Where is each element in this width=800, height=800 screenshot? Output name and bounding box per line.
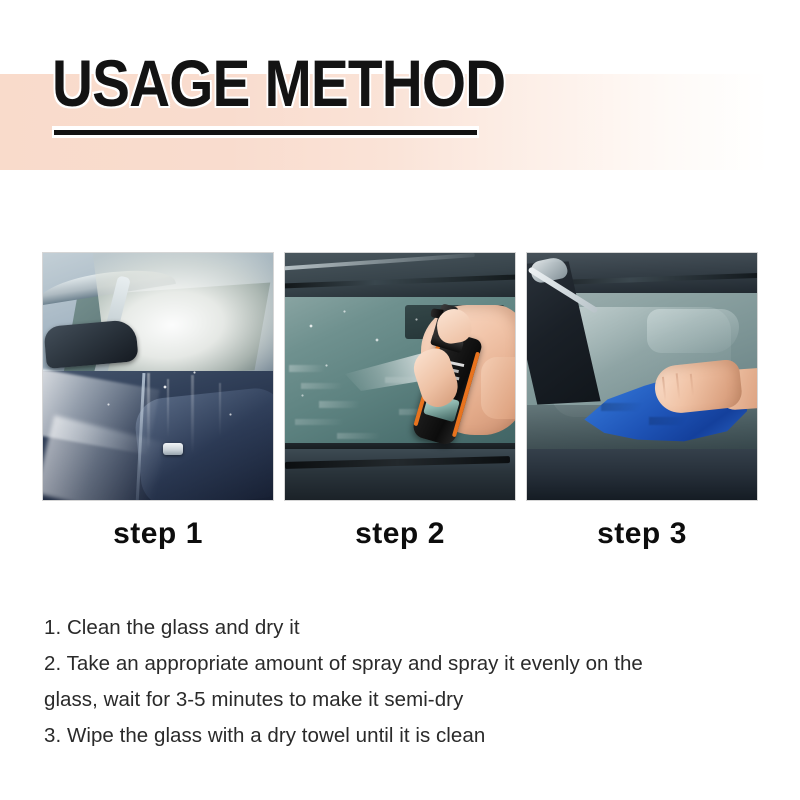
step-label-1: step1 xyxy=(43,512,273,560)
page-title-wrap: USAGE METHOD xyxy=(52,50,752,116)
title-underline-rule xyxy=(52,126,479,138)
step-label-word: step xyxy=(113,517,177,550)
spray-application-photo xyxy=(285,253,515,500)
car-hood xyxy=(527,449,757,500)
step-image-1 xyxy=(43,253,273,500)
step-label-2: step2 xyxy=(285,512,515,560)
towel-wipe-photo xyxy=(527,253,757,500)
page-header: USAGE METHOD xyxy=(0,0,800,200)
windshield-reflection xyxy=(647,309,739,353)
fingers xyxy=(652,368,711,404)
step-label-number: 1 xyxy=(186,517,203,550)
step-image-3 xyxy=(527,253,757,500)
instruction-line-4: 3. Wipe the glass with a dry towel until… xyxy=(44,718,760,754)
water-droplets xyxy=(43,253,273,500)
step-images-strip xyxy=(43,253,757,500)
step-label-number: 3 xyxy=(670,517,687,550)
wrist xyxy=(481,357,515,419)
step-labels-row: step1 step2 step3 xyxy=(43,512,757,560)
step-label-word: step xyxy=(597,517,661,550)
instruction-line-1: 1. Clean the glass and dry it xyxy=(44,610,760,646)
step-label-word: step xyxy=(355,517,419,550)
step-label-3: step3 xyxy=(527,512,757,560)
page-title: USAGE METHOD xyxy=(52,50,654,116)
car-wash-photo xyxy=(43,253,273,500)
step-label-number: 2 xyxy=(428,517,445,550)
instruction-line-3: glass, wait for 3-5 minutes to make it s… xyxy=(44,682,760,718)
instruction-line-2: 2. Take an appropriate amount of spray a… xyxy=(44,646,760,682)
step-image-2 xyxy=(285,253,515,500)
instructions-block: 1. Clean the glass and dry it 2. Take an… xyxy=(44,610,760,754)
